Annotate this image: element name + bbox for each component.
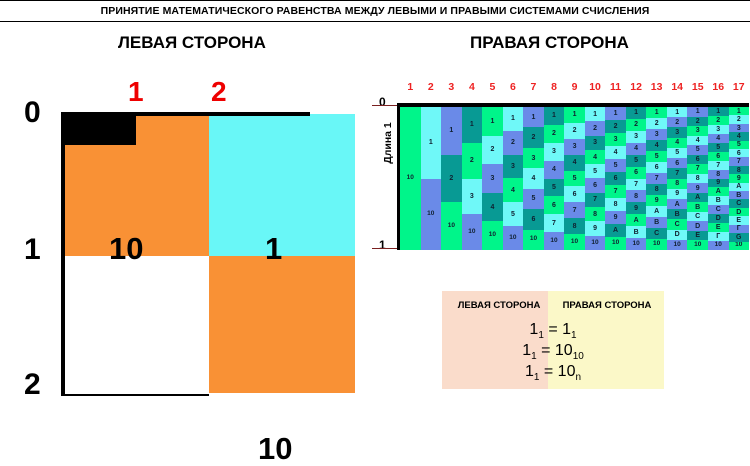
right-segment: 10 bbox=[708, 241, 729, 250]
right-segment: 5 bbox=[687, 145, 708, 155]
right-segment: 4 bbox=[605, 146, 626, 159]
right-segment: 2 bbox=[729, 115, 750, 123]
right-column-number-15: 15 bbox=[687, 81, 708, 97]
right-segment: 4 bbox=[667, 138, 688, 148]
right-column-10: 12345678910 bbox=[585, 107, 606, 250]
right-segment: 3 bbox=[687, 126, 708, 136]
right-segment: 8 bbox=[687, 174, 708, 184]
right-segment: 3 bbox=[523, 148, 544, 168]
right-segment: 2 bbox=[646, 118, 667, 129]
right-segment: 8 bbox=[564, 218, 585, 234]
right-segment: 9 bbox=[729, 174, 750, 182]
right-segment: 1 bbox=[646, 107, 667, 118]
right-segment: 1 bbox=[667, 107, 688, 117]
right-segment: B bbox=[626, 226, 647, 238]
right-segment: E bbox=[687, 231, 708, 241]
right-segment: 7 bbox=[729, 157, 750, 165]
right-column-13: 123456789ABC10 bbox=[646, 107, 667, 250]
right-axis-vertical bbox=[397, 103, 400, 250]
right-segment: 8 bbox=[626, 190, 647, 202]
right-segment: 1 bbox=[462, 107, 483, 143]
right-segment: 3 bbox=[729, 124, 750, 132]
right-segment: 7 bbox=[708, 161, 729, 170]
legend-heading-left: ЛЕВАЯ СТОРОНА bbox=[450, 300, 548, 311]
right-segment: 4 bbox=[482, 193, 503, 222]
left-block-orange-bottom bbox=[209, 256, 355, 393]
right-segment: 5 bbox=[729, 141, 750, 149]
right-segment: 1 bbox=[441, 107, 462, 155]
right-segment: 1 bbox=[585, 107, 606, 121]
right-column-17: 123456789ABCDEГG10 bbox=[729, 107, 750, 250]
right-segment: 7 bbox=[564, 202, 585, 218]
right-segment: D bbox=[729, 208, 750, 216]
right-segment: Г bbox=[708, 232, 729, 241]
right-segment: 5 bbox=[626, 155, 647, 167]
right-segment: 6 bbox=[667, 158, 688, 168]
right-segment: 5 bbox=[544, 179, 565, 197]
left-label-orange-top: 10 bbox=[109, 233, 143, 264]
right-column-number-2: 2 bbox=[421, 81, 442, 97]
right-segment: 4 bbox=[646, 140, 667, 151]
right-segment: C bbox=[687, 212, 708, 222]
right-column-number-6: 6 bbox=[503, 81, 524, 97]
right-column-16: 123456789ABCDEГ10 bbox=[708, 107, 729, 250]
left-diagram: 1 2 0 1 2 10 1 10 bbox=[0, 75, 390, 425]
section-heading-right: ПРАВАЯ СТОРОНА bbox=[470, 33, 629, 53]
right-segment: Г bbox=[729, 225, 750, 233]
right-segment: 3 bbox=[708, 125, 729, 134]
right-segment: 2 bbox=[462, 143, 483, 179]
right-column-number-7: 7 bbox=[523, 81, 544, 97]
right-segment: 2 bbox=[503, 131, 524, 155]
right-segment: 3 bbox=[585, 136, 606, 150]
right-segment: 1 bbox=[605, 107, 626, 120]
right-segment: 4 bbox=[687, 136, 708, 146]
right-y-tick-0 bbox=[372, 105, 398, 106]
right-y-label-0: 0 bbox=[379, 95, 386, 109]
left-axis-vertical bbox=[61, 112, 65, 396]
right-segment: 10 bbox=[605, 237, 626, 250]
right-segment: 9 bbox=[585, 221, 606, 235]
right-segment: 7 bbox=[626, 179, 647, 191]
right-segment: 6 bbox=[585, 178, 606, 192]
left-row-number-2: 2 bbox=[24, 370, 41, 400]
right-segment: 10 bbox=[585, 236, 606, 250]
right-segment: 3 bbox=[462, 179, 483, 215]
right-segment: C bbox=[646, 228, 667, 239]
right-segment: 5 bbox=[667, 148, 688, 158]
right-column-5: 123410 bbox=[482, 107, 503, 250]
right-segment: 3 bbox=[503, 155, 524, 179]
right-segment: B bbox=[708, 196, 729, 205]
right-segment: 1 bbox=[708, 107, 729, 116]
left-column-number-2: 2 bbox=[211, 78, 227, 106]
right-segment: A bbox=[687, 193, 708, 203]
right-column-number-17: 17 bbox=[729, 81, 750, 97]
right-segment: 3 bbox=[544, 143, 565, 161]
poster-root: ПРИНЯТИЕ МАТЕМАТИЧЕСКОГО РАВЕНСТВА МЕЖДУ… bbox=[0, 0, 750, 425]
section-heading-left: ЛЕВАЯ СТОРОНА bbox=[118, 33, 266, 53]
right-segment: B bbox=[687, 202, 708, 212]
left-label-orange-bottom: 10 bbox=[258, 433, 292, 464]
left-block-black bbox=[63, 114, 136, 145]
right-segment: 2 bbox=[523, 127, 544, 147]
right-segment: 6 bbox=[729, 149, 750, 157]
poster-title-bar: ПРИНЯТИЕ МАТЕМАТИЧЕСКОГО РАВЕНСТВА МЕЖДУ… bbox=[0, 0, 750, 22]
right-segment: 7 bbox=[687, 164, 708, 174]
right-segment: 10 bbox=[564, 234, 585, 250]
right-chart: 0 1 Длина 1 1234567891011121314151617 10… bbox=[372, 75, 750, 275]
right-segment: 8 bbox=[667, 179, 688, 189]
right-segment: 10 bbox=[687, 240, 708, 250]
right-column-12: 123456789AB10 bbox=[626, 107, 647, 250]
right-column-grid: 1011012101231012341012345101234561012345… bbox=[400, 107, 749, 250]
right-segment: D bbox=[687, 221, 708, 231]
right-segment: C bbox=[667, 219, 688, 229]
right-segment: 5 bbox=[646, 151, 667, 162]
right-segment: C bbox=[708, 205, 729, 214]
right-segment: E bbox=[729, 216, 750, 224]
right-column-9: 1234567810 bbox=[564, 107, 585, 250]
right-segment: 8 bbox=[605, 198, 626, 211]
right-segment: 10 bbox=[441, 202, 462, 250]
right-segment: 3 bbox=[667, 127, 688, 137]
right-segment: 4 bbox=[626, 143, 647, 155]
right-segment: A bbox=[729, 183, 750, 191]
right-segment: 10 bbox=[544, 232, 565, 250]
right-segment: 5 bbox=[523, 189, 544, 209]
right-segment: 1 bbox=[523, 107, 544, 127]
right-segment: 9 bbox=[605, 211, 626, 224]
right-column-numbers: 1234567891011121314151617 bbox=[400, 81, 749, 97]
right-segment: 9 bbox=[708, 179, 729, 188]
right-segment: 8 bbox=[585, 207, 606, 221]
right-segment: 2 bbox=[441, 155, 462, 203]
right-column-3: 1210 bbox=[441, 107, 462, 250]
right-segment: C bbox=[729, 199, 750, 207]
right-segment: 10 bbox=[462, 214, 483, 250]
right-segment: 4 bbox=[729, 132, 750, 140]
left-axis-top bbox=[61, 112, 310, 116]
right-column-15: 123456789ABCDE10 bbox=[687, 107, 708, 250]
right-column-6: 1234510 bbox=[503, 107, 524, 250]
right-column-1: 10 bbox=[400, 107, 421, 250]
right-column-number-10: 10 bbox=[585, 81, 606, 97]
left-row-number-0: 0 bbox=[24, 98, 41, 128]
right-segment: 5 bbox=[585, 164, 606, 178]
right-segment: A bbox=[626, 214, 647, 226]
right-segment: 6 bbox=[605, 172, 626, 185]
right-segment: 5 bbox=[605, 159, 626, 172]
left-label-cyan: 1 bbox=[265, 233, 282, 264]
right-segment: A bbox=[605, 224, 626, 237]
right-segment: 1 bbox=[503, 107, 524, 131]
right-segment: 4 bbox=[544, 161, 565, 179]
left-row-number-1: 1 bbox=[24, 235, 41, 265]
right-segment: 2 bbox=[687, 117, 708, 127]
right-segment: 8 bbox=[646, 184, 667, 195]
right-segment: 6 bbox=[646, 162, 667, 173]
right-segment: E bbox=[708, 223, 729, 232]
right-column-number-1: 1 bbox=[400, 81, 421, 97]
right-segment: 6 bbox=[687, 155, 708, 165]
right-segment: 5 bbox=[564, 171, 585, 187]
right-column-number-12: 12 bbox=[626, 81, 647, 97]
page-title: ПРИНЯТИЕ МАТЕМАТИЧЕСКОГО РАВЕНСТВА МЕЖДУ… bbox=[101, 5, 650, 17]
right-segment: 10 bbox=[503, 226, 524, 250]
right-column-number-14: 14 bbox=[667, 81, 688, 97]
right-segment: 2 bbox=[564, 123, 585, 139]
legend-heading-right: ПРАВАЯ СТОРОНА bbox=[552, 300, 662, 311]
right-segment: 5 bbox=[708, 143, 729, 152]
right-segment: 2 bbox=[482, 136, 503, 165]
right-column-7: 12345610 bbox=[523, 107, 544, 250]
right-segment: 4 bbox=[523, 168, 544, 188]
right-segment: 8 bbox=[729, 166, 750, 174]
right-segment: 1 bbox=[687, 107, 708, 117]
right-segment: 10 bbox=[646, 239, 667, 250]
right-column-4: 12310 bbox=[462, 107, 483, 250]
legend-equation-1: 11 = 11 bbox=[442, 321, 664, 341]
right-segment: 2 bbox=[667, 117, 688, 127]
left-column-number-1: 1 bbox=[128, 78, 144, 106]
right-column-number-11: 11 bbox=[605, 81, 626, 97]
right-segment: 1 bbox=[544, 107, 565, 125]
right-segment: 5 bbox=[503, 202, 524, 226]
right-segment: B bbox=[729, 191, 750, 199]
right-segment: 4 bbox=[503, 178, 524, 202]
right-segment: B bbox=[646, 217, 667, 228]
right-segment: 6 bbox=[564, 186, 585, 202]
right-segment: 6 bbox=[544, 196, 565, 214]
right-segment: G bbox=[729, 233, 750, 241]
right-segment: A bbox=[667, 199, 688, 209]
legend-box: ЛЕВАЯ СТОРОНА ПРАВАЯ СТОРОНА 11 = 11 11 … bbox=[442, 291, 664, 389]
right-segment: 2 bbox=[605, 120, 626, 133]
right-segment: 3 bbox=[626, 131, 647, 143]
right-segment: 10 bbox=[667, 240, 688, 250]
right-column-number-13: 13 bbox=[646, 81, 667, 97]
left-axis-bottom bbox=[61, 394, 209, 396]
right-segment: 8 bbox=[708, 170, 729, 179]
right-segment: 9 bbox=[667, 189, 688, 199]
right-segment: 1 bbox=[482, 107, 503, 136]
right-segment: 7 bbox=[605, 185, 626, 198]
right-column-number-5: 5 bbox=[482, 81, 503, 97]
right-segment: A bbox=[708, 187, 729, 196]
right-segment: 9 bbox=[687, 183, 708, 193]
right-segment: 2 bbox=[708, 116, 729, 125]
right-segment: 3 bbox=[605, 133, 626, 146]
right-column-14: 123456789ABCD10 bbox=[667, 107, 688, 250]
right-segment: 1 bbox=[729, 107, 750, 115]
right-segment: 6 bbox=[523, 209, 544, 229]
right-segment: 10 bbox=[421, 179, 442, 251]
right-segment: A bbox=[646, 206, 667, 217]
legend-equation-3: 11 = 10n bbox=[442, 363, 664, 383]
right-segment: 6 bbox=[626, 167, 647, 179]
right-segment: 4 bbox=[585, 150, 606, 164]
right-segment: 1 bbox=[626, 107, 647, 119]
right-segment: 3 bbox=[564, 139, 585, 155]
right-axis-title: Длина 1 bbox=[382, 113, 394, 173]
right-segment: 10 bbox=[729, 242, 750, 250]
right-y-tick-1 bbox=[372, 248, 398, 249]
right-segment: 1 bbox=[564, 107, 585, 123]
right-segment: 9 bbox=[626, 202, 647, 214]
right-segment: D bbox=[708, 214, 729, 223]
right-segment: B bbox=[667, 209, 688, 219]
right-segment: 7 bbox=[646, 173, 667, 184]
right-segment: 7 bbox=[544, 214, 565, 232]
right-segment: 10 bbox=[626, 238, 647, 250]
right-segment: 3 bbox=[646, 129, 667, 140]
right-axis-top bbox=[397, 103, 749, 107]
right-segment: 10 bbox=[523, 230, 544, 250]
right-column-11: 123456789A10 bbox=[605, 107, 626, 250]
right-segment: 7 bbox=[585, 193, 606, 207]
right-column-2: 110 bbox=[421, 107, 442, 250]
right-column-8: 123456710 bbox=[544, 107, 565, 250]
right-column-number-8: 8 bbox=[544, 81, 565, 97]
right-segment: 7 bbox=[667, 168, 688, 178]
right-segment: 10 bbox=[400, 107, 421, 250]
right-column-number-4: 4 bbox=[462, 81, 483, 97]
right-y-label-1: 1 bbox=[379, 238, 386, 252]
right-segment: 4 bbox=[708, 134, 729, 143]
right-segment: 2 bbox=[626, 119, 647, 131]
right-segment: 3 bbox=[482, 164, 503, 193]
right-column-number-9: 9 bbox=[564, 81, 585, 97]
right-column-number-16: 16 bbox=[708, 81, 729, 97]
right-column-number-3: 3 bbox=[441, 81, 462, 97]
right-segment: D bbox=[667, 230, 688, 240]
right-segment: 2 bbox=[585, 121, 606, 135]
right-segment: 1 bbox=[421, 107, 442, 179]
right-segment: 4 bbox=[564, 155, 585, 171]
right-segment: 10 bbox=[482, 221, 503, 250]
legend-equation-2: 11 = 1010 bbox=[442, 342, 664, 362]
right-segment: 9 bbox=[646, 195, 667, 206]
right-segment: 2 bbox=[544, 125, 565, 143]
right-segment: 6 bbox=[708, 152, 729, 161]
